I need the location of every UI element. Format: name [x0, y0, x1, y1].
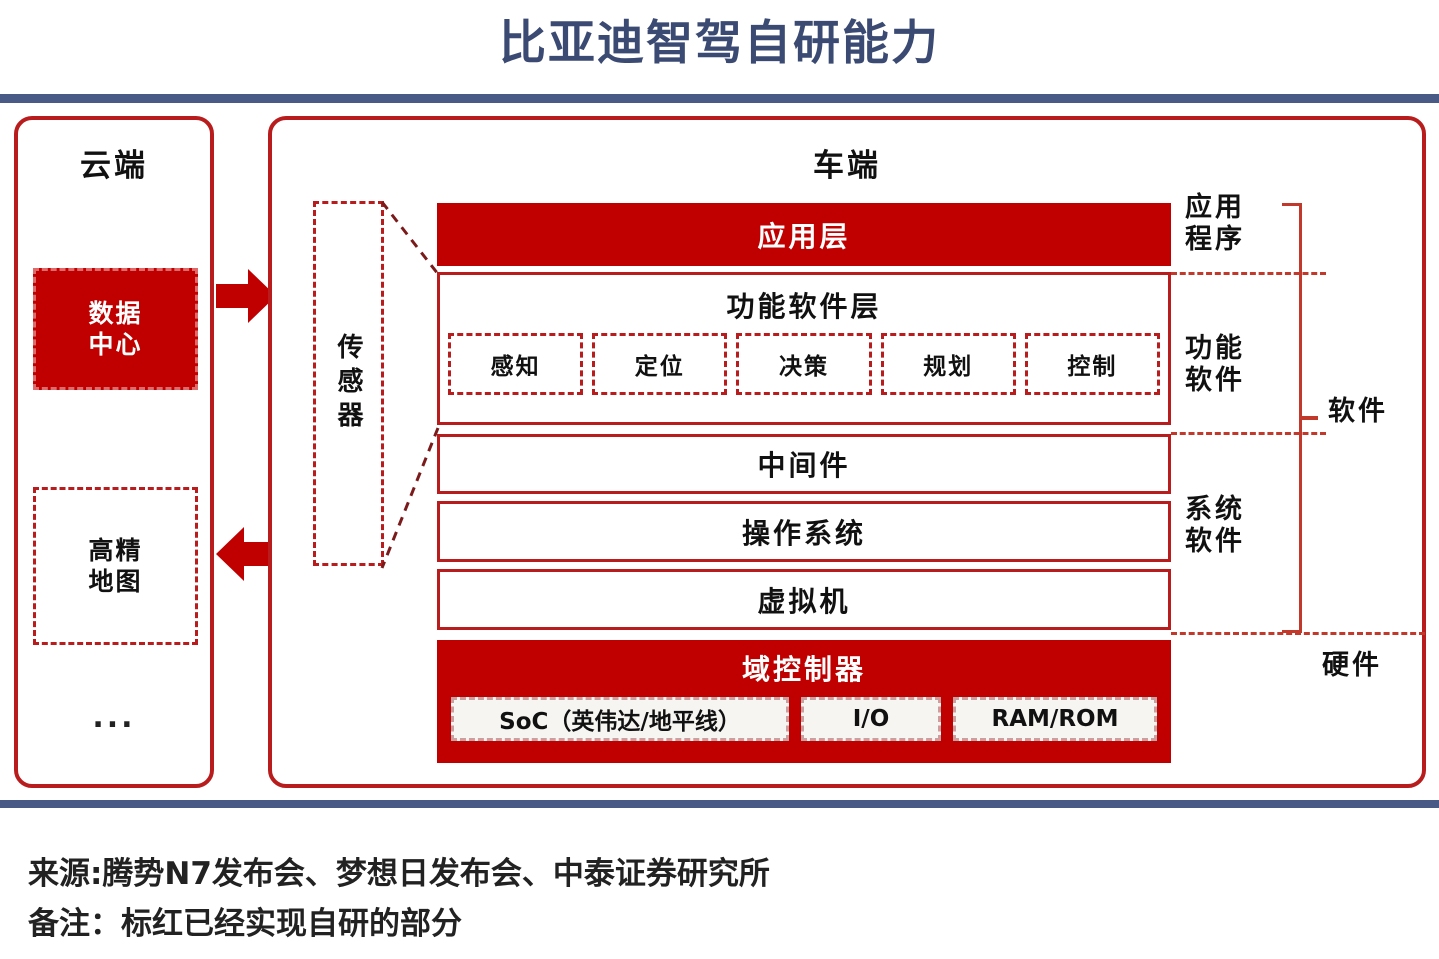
- header-divider-rule: [0, 94, 1439, 103]
- side-label-function-software: 功能 软件: [1185, 333, 1245, 398]
- function-module-label: 感知: [491, 347, 541, 381]
- cloud-ellipsis-label: ...: [14, 700, 214, 735]
- chip-soc: SoC（英伟达/地平线）: [451, 697, 789, 741]
- cloud-heading: 云端: [14, 140, 214, 185]
- separator-function-software: [1171, 432, 1326, 435]
- sensor-label: 传感器: [330, 333, 367, 435]
- function-module-list: 感知 定位 决策 规划 控制: [440, 325, 1168, 395]
- layer-middleware: 中间件: [437, 434, 1171, 494]
- side-label-software: 软件: [1328, 396, 1388, 428]
- chip-io: I/O: [801, 697, 941, 741]
- domain-controller-chip-list: SoC（英伟达/地平线） I/O RAM/ROM: [437, 688, 1171, 741]
- software-bracket: [1282, 203, 1302, 633]
- cloud-panel: [14, 116, 214, 788]
- function-module-perception: 感知: [448, 333, 583, 395]
- separator-application: [1171, 272, 1326, 275]
- sensor-connector-lines: [380, 196, 442, 576]
- function-module-label: 规划: [923, 347, 973, 381]
- software-bracket-tick: [1300, 416, 1318, 420]
- layer-middleware-label: 中间件: [757, 444, 850, 484]
- function-module-label: 决策: [779, 347, 829, 381]
- chip-label: SoC（英伟达/地平线）: [499, 702, 741, 736]
- function-module-decision: 决策: [736, 333, 871, 395]
- function-module-localization: 定位: [592, 333, 727, 395]
- chip-label: I/O: [853, 706, 890, 732]
- side-label-hardware: 硬件: [1322, 650, 1382, 682]
- hd-map-label: 高精 地图: [88, 535, 142, 598]
- chip-label: RAM/ROM: [992, 706, 1119, 732]
- footer-divider-rule: [0, 800, 1439, 808]
- domain-controller-block: 域控制器 SoC（英伟达/地平线） I/O RAM/ROM: [437, 640, 1171, 763]
- layer-function-software: 功能软件层 感知 定位 决策 规划 控制: [437, 272, 1171, 425]
- chip-ram-rom: RAM/ROM: [953, 697, 1157, 741]
- layer-virtual-machine-label: 虚拟机: [757, 580, 850, 620]
- layer-function-software-label: 功能软件层: [440, 285, 1168, 325]
- function-module-label: 控制: [1067, 347, 1117, 381]
- slide-canvas: 比亚迪智驾自研能力 云端 数据 中心 高精 地图 ... 车端 传感器 应用层 …: [0, 0, 1439, 959]
- layer-virtual-machine: 虚拟机: [437, 569, 1171, 630]
- layer-application-label: 应用层: [757, 215, 850, 255]
- side-label-application-program: 应用 程序: [1185, 192, 1245, 257]
- vehicle-heading: 车端: [268, 140, 1426, 185]
- function-module-planning: 规划: [881, 333, 1016, 395]
- data-center-label: 数据 中心: [88, 298, 142, 361]
- layer-operating-system: 操作系统: [437, 501, 1171, 562]
- layer-application: 应用层: [437, 203, 1171, 266]
- sensor-box: 传感器: [313, 201, 384, 566]
- page-title: 比亚迪智驾自研能力: [0, 4, 1439, 73]
- domain-controller-label: 域控制器: [437, 640, 1171, 688]
- layer-operating-system-label: 操作系统: [742, 512, 866, 552]
- footer-note-text: 备注：标红已经实现自研的部分: [28, 898, 462, 943]
- data-center-box: 数据 中心: [33, 268, 198, 390]
- side-label-system-software: 系统 软件: [1185, 494, 1245, 559]
- footer-source-text: 来源:腾势N7发布会、梦想日发布会、中泰证券研究所: [28, 848, 770, 893]
- function-module-control: 控制: [1025, 333, 1160, 395]
- arrow-left-icon: [214, 524, 276, 588]
- hd-map-box: 高精 地图: [33, 487, 198, 645]
- function-module-label: 定位: [635, 347, 685, 381]
